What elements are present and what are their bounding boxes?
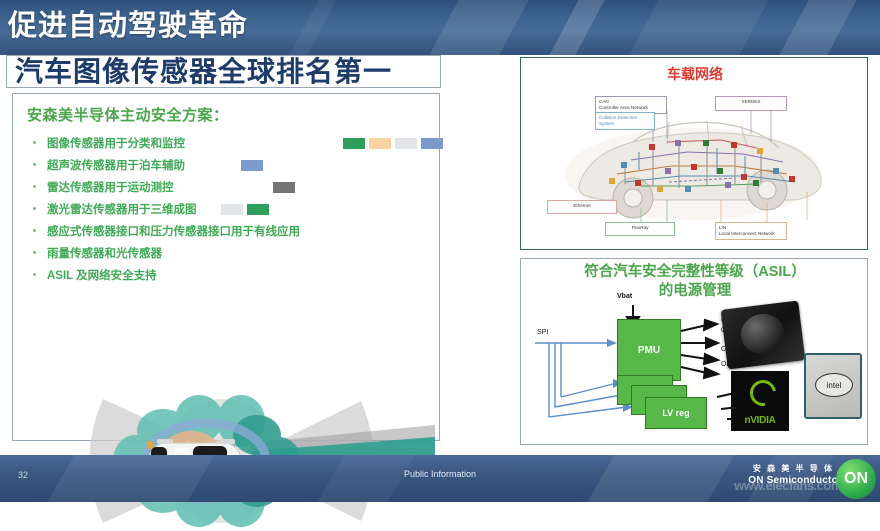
legend-swatch (421, 138, 443, 149)
bullet-dot-icon (33, 229, 36, 232)
legend-swatch (221, 204, 243, 215)
in-vehicle-network-panel: 车载网络 (520, 57, 868, 250)
bullet-label: 超声波传感器用于泊车辅助 (47, 158, 185, 174)
header-streak-5 (265, 0, 352, 55)
bullet-dot-icon (33, 141, 36, 144)
header-streak-4 (755, 0, 872, 55)
header-streak-1 (405, 0, 544, 55)
lin-label: LINLocal Interconnect Network (715, 222, 787, 240)
nvidia-label: nVIDIA (731, 415, 789, 426)
collision-detection-label-line: System (599, 121, 651, 127)
nvidia-logo-chip: nVIDIA (731, 371, 789, 431)
flexray-label-line: FlexRay (609, 225, 671, 231)
bullet-dot-icon (33, 163, 36, 166)
solutions-heading: 安森美半导体主动安全方案： (27, 104, 229, 125)
asil-power-title-line2: 的电源管理 (521, 282, 869, 301)
bullet-item: 超声波传感器用于泊车辅助 (33, 158, 433, 180)
spi-label: SPI (537, 329, 548, 336)
serdes-label-line: SERDES (719, 99, 783, 105)
legend-swatch (395, 138, 417, 149)
bullet-dot-icon (33, 273, 36, 276)
nvidia-eye-icon (745, 375, 781, 411)
footer-band: 32 Public Information www.elecfans.com 安… (0, 455, 880, 502)
legend-swatch (343, 138, 365, 149)
bullet-label: 图像传感器用于分类和监控 (47, 136, 185, 152)
ethernet-label-line: Ethernet (551, 203, 613, 209)
asil-power-management-panel: 符合汽车安全完整性等级（ASIL） 的电源管理 (520, 258, 868, 445)
bullet-item: 图像传感器用于分类和监控 (33, 136, 433, 158)
ethernet-label: Ethernet (547, 200, 617, 214)
legend-swatch (241, 160, 263, 171)
bullet-item: ASIL 及网络安全支持 (33, 268, 433, 290)
vehicle-network-diagram: CANController Area NetworkCollision Dete… (521, 82, 867, 248)
flexray-label: FlexRay (605, 222, 675, 236)
on-semiconductor-logo: www.elecfans.com 安 森 美 半 导 体 ON Semicond… (700, 458, 876, 500)
bullet-label: 雨量传感器和光传感器 (47, 246, 162, 262)
serdes-label: SERDES (715, 96, 787, 111)
bullet-item: 雨量传感器和光传感器 (33, 246, 433, 268)
intel-label: intel (815, 373, 853, 397)
bga-processor-chip (721, 300, 806, 369)
bullet-item: 雷达传感器用于运动测控 (33, 180, 433, 202)
on-logo-mark-icon: ON (836, 459, 876, 499)
bullet-label: 雷达传感器用于运动测控 (47, 180, 174, 196)
collision-detection-label: Collision DetectionSystem (595, 112, 655, 130)
header-streak-2 (525, 0, 620, 55)
header-band: 促进自动驾驶革命 (0, 0, 880, 55)
header-streak-3 (605, 0, 784, 55)
logo-english-name: ON Semiconductor (748, 475, 842, 486)
bullet-item: 激光雷达传感器用于三维成图 (33, 202, 433, 224)
bullet-dot-icon (33, 207, 36, 210)
bullet-dot-icon (33, 185, 36, 188)
intel-cpu-chip: intel (804, 353, 862, 419)
legend-swatch (247, 204, 269, 215)
bullet-item: 感应式传感器接口和压力传感器接口用于有线应用 (33, 224, 433, 246)
asil-power-title: 符合汽车安全完整性等级（ASIL） 的电源管理 (521, 263, 869, 301)
left-content-panel: 安森美半导体主动安全方案： 图像传感器用于分类和监控超声波传感器用于泊车辅助雷达… (12, 93, 440, 441)
bullet-dot-icon (33, 251, 36, 254)
page-title: 促进自动驾驶革命 (8, 6, 248, 46)
pmu-block: PMU (617, 319, 681, 381)
subtitle-text: 汽车图像传感器全球排名第一 (15, 54, 392, 90)
logo-chinese-name: 安 森 美 半 导 体 (753, 463, 834, 474)
bullet-label: 激光雷达传感器用于三维成图 (47, 202, 197, 218)
bullet-label: ASIL 及网络安全支持 (47, 268, 157, 284)
in-vehicle-network-title: 车载网络 (521, 64, 869, 84)
legend-swatch (369, 138, 391, 149)
subtitle-box: 汽车图像传感器全球排名第一 (6, 55, 441, 88)
bullet-label: 感应式传感器接口和压力传感器接口用于有线应用 (47, 224, 300, 240)
lin-label-line: Local Interconnect Network (719, 231, 783, 237)
vbat-label: Vbat (617, 293, 632, 300)
legend-swatch (273, 182, 295, 193)
power-block-diagram: PMU LV reg Vbat SPI Out1 Out2 Out3 Out4 … (521, 301, 869, 443)
solutions-bullet-list: 图像传感器用于分类和监控超声波传感器用于泊车辅助雷达传感器用于运动测控激光雷达传… (33, 136, 433, 290)
asil-power-title-line1: 符合汽车安全完整性等级（ASIL） (521, 263, 869, 282)
can-label-line: Controller Area Network (599, 105, 663, 111)
lvreg-block: LV reg (645, 397, 707, 429)
